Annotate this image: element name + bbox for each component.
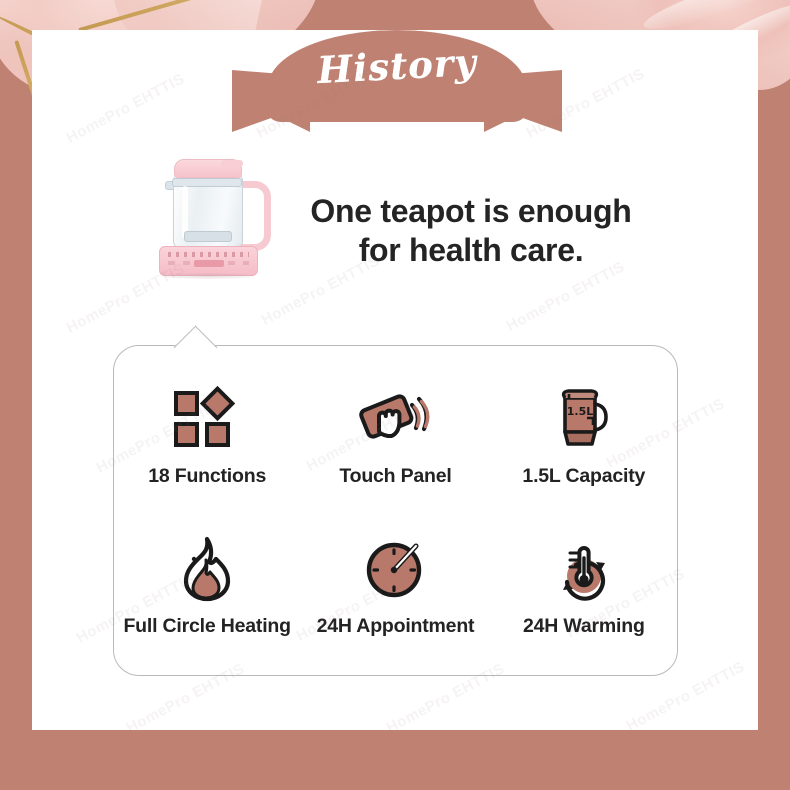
kettle-glass-body bbox=[173, 175, 243, 249]
product-shadow bbox=[162, 273, 254, 279]
feature-item-warming: 24H Warming bbox=[490, 533, 678, 638]
feature-label: Full Circle Heating bbox=[123, 615, 290, 638]
page-headline: One teapot is enough for health care. bbox=[286, 192, 656, 270]
feature-list: 18 Functions bbox=[113, 360, 678, 660]
feature-label: 18 Functions bbox=[148, 465, 266, 488]
feature-label: 24H Warming bbox=[523, 615, 645, 638]
feature-label: Touch Panel bbox=[339, 465, 451, 488]
notch-triangle bbox=[174, 326, 218, 348]
control-display bbox=[194, 260, 224, 267]
kettle-capacity-icon: 1.5L bbox=[545, 383, 623, 455]
product-image-kettle bbox=[150, 155, 275, 290]
feature-item-capacity: 1.5L 1.5L Capacity bbox=[490, 383, 678, 488]
clock-dial-icon bbox=[356, 533, 434, 605]
history-ribbon-banner: History bbox=[232, 22, 562, 147]
product-detail-page: History One teapot is enough for health … bbox=[0, 0, 790, 790]
touch-panel-hand-icon bbox=[356, 383, 434, 455]
kettle-inner-plate bbox=[184, 231, 232, 242]
thermometer-rotate-icon bbox=[545, 533, 623, 605]
feature-label: 24H Appointment bbox=[317, 615, 475, 638]
feature-label: 1.5L Capacity bbox=[522, 465, 645, 488]
capacity-icon-text: 1.5L bbox=[567, 405, 594, 418]
feature-item-18-functions: 18 Functions bbox=[113, 383, 301, 488]
headline-line-1: One teapot is enough bbox=[286, 192, 656, 231]
kettle-control-base bbox=[159, 246, 258, 276]
feature-item-full-circle-heating: Full Circle Heating bbox=[113, 533, 301, 638]
control-button-row bbox=[168, 252, 249, 257]
feature-card-pointer-notch bbox=[172, 324, 228, 348]
blocks-functions-icon bbox=[168, 383, 246, 455]
feature-item-touch-panel: Touch Panel bbox=[301, 383, 489, 488]
kettle-lid-knob bbox=[221, 160, 243, 167]
headline-line-2: for health care. bbox=[286, 231, 656, 270]
flame-icon bbox=[168, 533, 246, 605]
feature-item-appointment: 24H Appointment bbox=[301, 533, 489, 638]
kettle-lid bbox=[174, 159, 242, 178]
